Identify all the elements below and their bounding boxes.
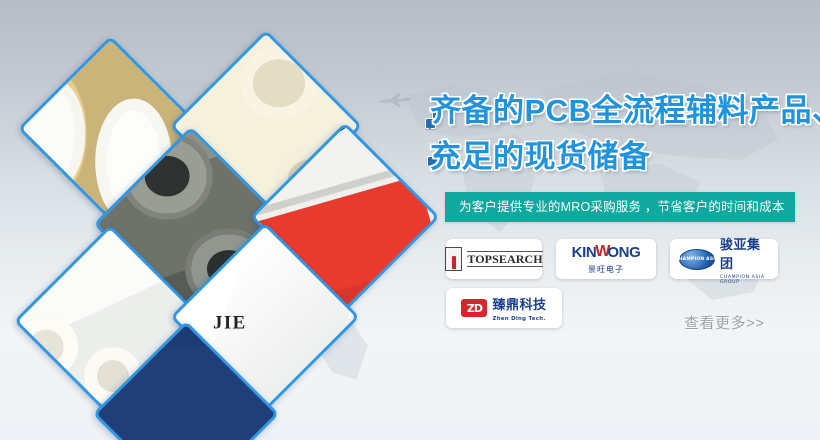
partner-logo-row-1: TOPSEARCH KIN W ONG 景旺电子 CHAMPION ASIA [446,239,796,279]
zhen-ding-sub: Zhen Ding Tech. [492,316,546,322]
headline-line-2: 充足的现货储备 [430,134,810,180]
partner-logo-zhen-ding[interactable]: ZD 臻鼎科技 Zhen Ding Tech. [446,288,562,328]
headline-line-1: 齐备的PCB全流程辅料产品、 [430,88,810,134]
kinwong-sub: 景旺电子 [588,264,624,275]
champion-asia-sub: CHAMPION ASIA GROUP [720,275,769,285]
partner-logo-topsearch[interactable]: TOPSEARCH [446,239,542,279]
kinwong-text-b: ONG [607,244,640,261]
topsearch-wordmark: TOPSEARCH [467,251,542,267]
partner-logo-kinwong[interactable]: KIN W ONG 景旺电子 [556,239,656,279]
partner-logo-champion-asia[interactable]: CHAMPION ASIA 骏亚集团 CHAMPION ASIA GROUP [670,239,778,279]
champion-asia-text: 骏亚集团 [720,234,769,272]
globe-icon: CHAMPION ASIA [679,249,715,270]
zhen-ding-mark-text: ZD [467,302,482,315]
product-collage: JIE [0,0,420,440]
promo-banner: JIE 齐备的PCB全流程辅料产品、 充足的现货储备 为客户提供专业的MRO采购… [0,0,820,440]
champion-asia-wordmark: 骏亚集团 CHAMPION ASIA GROUP [720,234,769,285]
zhen-ding-wordmark: 臻鼎科技 Zhen Ding Tech. [492,294,546,322]
kinwong-text-a: KIN [572,244,597,261]
subtitle-bar: 为客户提供专业的MRO采购服务 ，节省客户的时间和成本 [445,192,795,222]
zhen-ding-text: 臻鼎科技 [492,294,546,313]
view-more-link[interactable]: 查看更多>> [684,312,765,333]
topsearch-mark-icon [445,247,462,271]
kinwong-wordmark: KIN W ONG 景旺电子 [572,243,641,275]
collage-tile-label: JIE [213,312,247,335]
globe-label: CHAMPION ASIA [675,257,719,262]
subtitle-text: 为客户提供专业的MRO采购服务 ，节省客户的时间和成本 [445,192,785,222]
headline: 齐备的PCB全流程辅料产品、 充足的现货储备 [430,88,810,180]
zhen-ding-mark-icon: ZD [461,299,487,317]
